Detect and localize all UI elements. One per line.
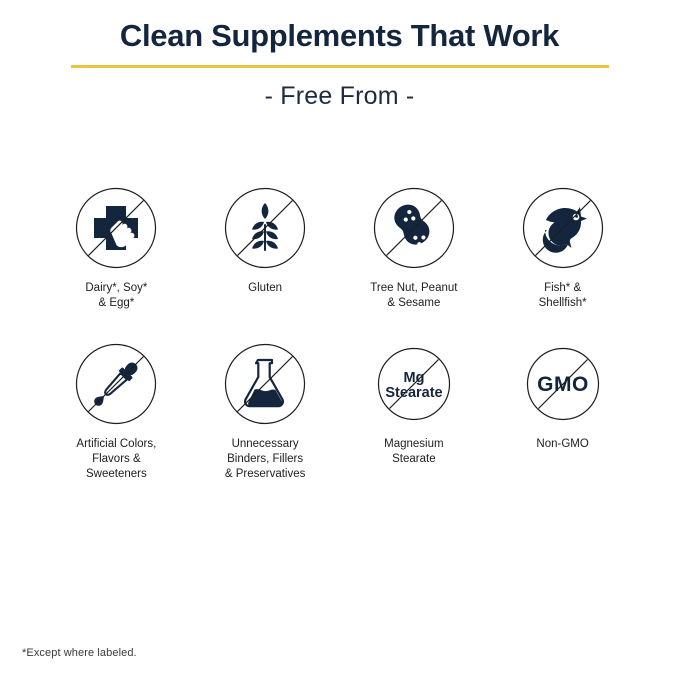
free-from-item-label: Artificial Colors, Flavors & Sweeteners — [76, 437, 156, 483]
gmo-text-icon: GMO — [521, 342, 605, 426]
free-from-item-label: Magnesium Stearate — [384, 437, 443, 468]
free-from-item-binders-fillers: Unnecessary Binders, Fillers & Preservat… — [191, 342, 340, 483]
free-from-item-tree-nut-peanut-sesame: Tree Nut, Peanut & Sesame — [340, 186, 489, 312]
free-from-item-label: Unnecessary Binders, Fillers & Preservat… — [225, 437, 306, 483]
free-from-item-gluten: Gluten — [191, 186, 340, 312]
free-from-item-magnesium-stearate: Mg Stearate Magnesium Stearate — [340, 342, 489, 483]
free-from-item-label: Non-GMO — [536, 437, 588, 452]
footnote: *Except where labeled. — [22, 647, 137, 659]
page-title: Clean Supplements That Work — [0, 18, 679, 54]
free-from-item-label: Tree Nut, Peanut & Sesame — [370, 281, 457, 312]
fish-icon — [521, 186, 605, 270]
free-from-item-artificial-colors: Artificial Colors, Flavors & Sweeteners — [42, 342, 191, 483]
page-subtitle: - Free From - — [0, 82, 679, 111]
free-from-item-label: Fish* & Shellfish* — [539, 281, 587, 312]
free-from-item-label: Dairy*, Soy* & Egg* — [85, 281, 147, 312]
mg-stearate-text-icon: Mg Stearate — [372, 342, 456, 426]
free-from-item-label: Gluten — [248, 281, 282, 296]
free-from-icon-grid: Dairy*, Soy* & Egg* — [42, 186, 637, 482]
title-divider — [71, 65, 609, 68]
header: Clean Supplements That Work - Free From … — [0, 18, 679, 111]
mg-stearate-line2: Stearate — [385, 385, 442, 401]
free-from-item-dairy-soy-egg: Dairy*, Soy* & Egg* — [42, 186, 191, 312]
dropper-icon — [74, 342, 158, 426]
flask-icon — [223, 342, 307, 426]
wheat-stalk-icon — [223, 186, 307, 270]
medical-cross-hand-icon — [74, 186, 158, 270]
peanut-icon — [372, 186, 456, 270]
free-from-item-fish-shellfish: Fish* & Shellfish* — [488, 186, 637, 312]
free-from-infographic: Clean Supplements That Work - Free From … — [0, 0, 679, 679]
free-from-item-non-gmo: GMO Non-GMO — [488, 342, 637, 483]
